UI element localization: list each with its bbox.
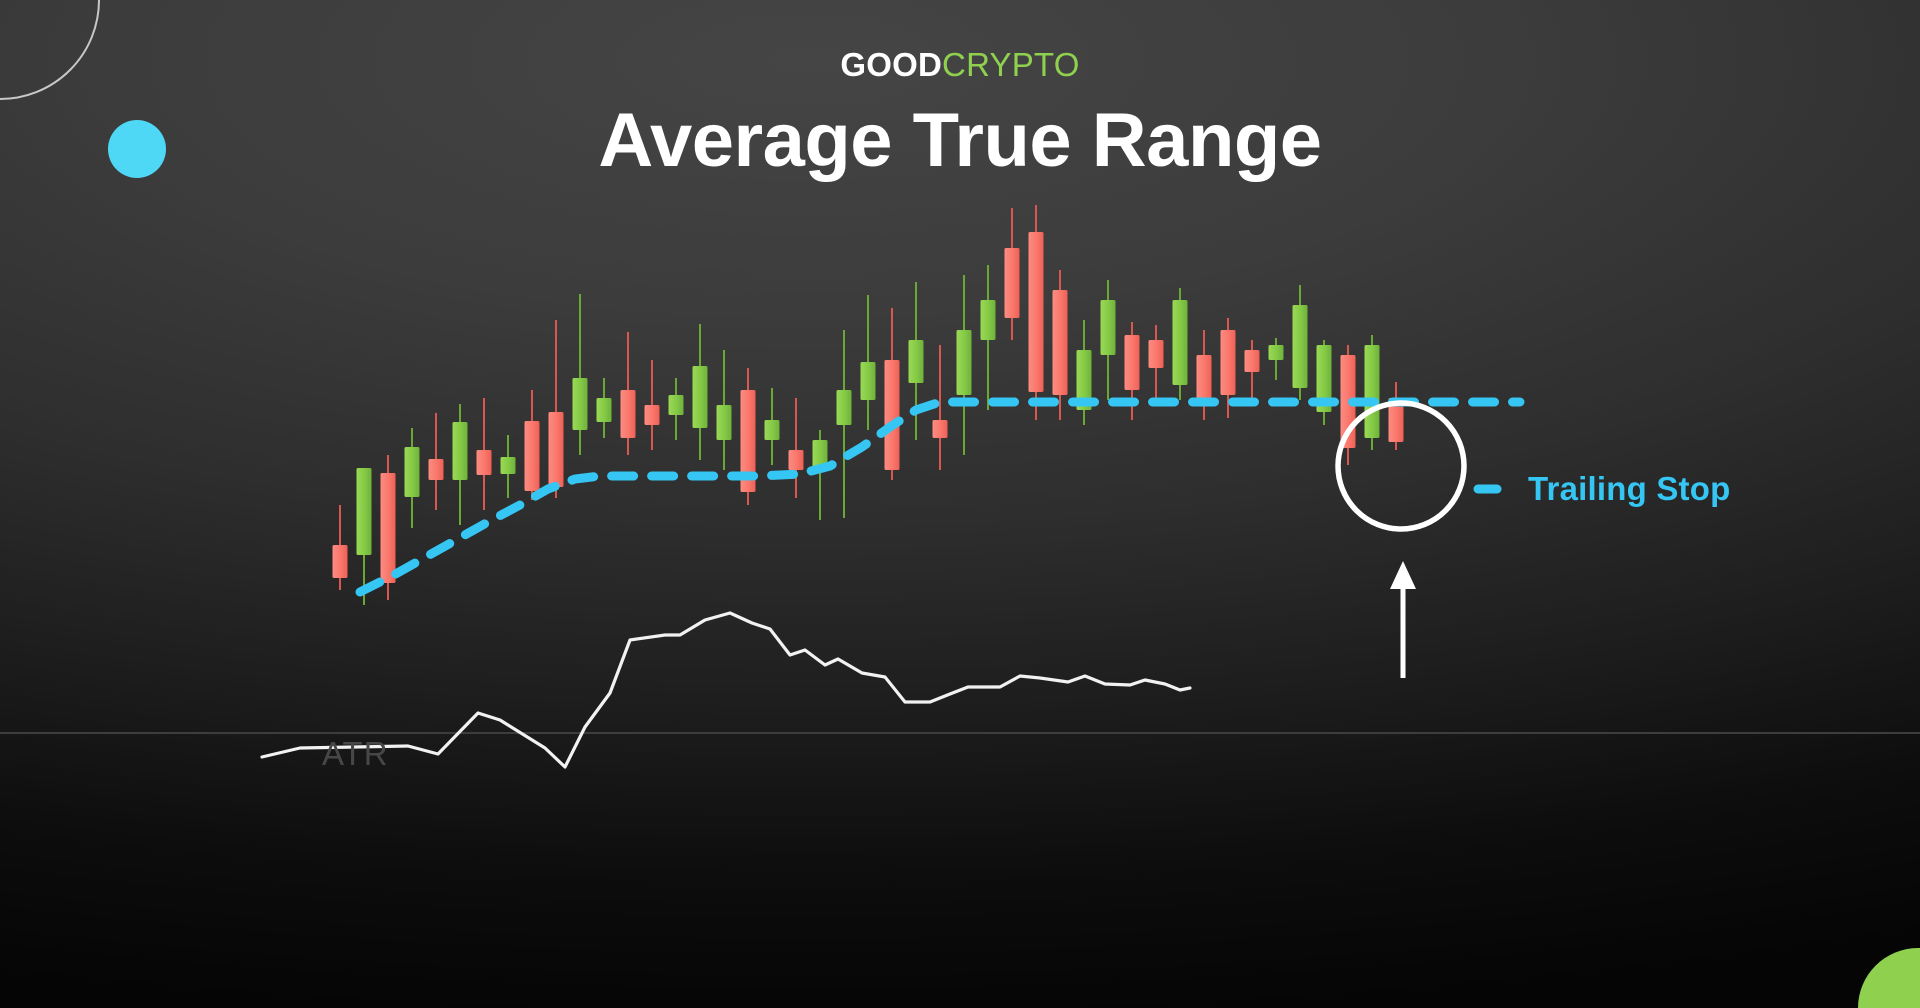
infographic-canvas: GOODCRYPTO Average True Range xyxy=(0,0,1920,1008)
candle-body xyxy=(981,300,996,340)
candle-body xyxy=(501,457,516,474)
candle-body xyxy=(669,395,684,415)
candle-body xyxy=(861,362,876,400)
candle-body xyxy=(453,422,468,480)
candle-body xyxy=(597,398,612,422)
candle-body xyxy=(1149,340,1164,368)
candle-body xyxy=(405,447,420,497)
candle-body xyxy=(789,450,804,470)
candle-body xyxy=(573,378,588,430)
candle-body xyxy=(1293,305,1308,388)
candle-body xyxy=(1053,290,1068,395)
candle-body xyxy=(909,340,924,383)
candle-body xyxy=(1101,300,1116,355)
candle-body xyxy=(429,459,444,480)
candle-body xyxy=(957,330,972,395)
candle-body xyxy=(1269,345,1284,360)
candle-body xyxy=(357,468,372,555)
candle-body xyxy=(621,390,636,438)
candle-body xyxy=(549,412,564,487)
candle-body xyxy=(1365,345,1380,438)
pointer-arrow-icon xyxy=(1390,561,1416,678)
trailing-stop-label: Trailing Stop xyxy=(1528,470,1730,508)
candle-body xyxy=(333,545,348,578)
candle-body xyxy=(645,405,660,425)
candle-body xyxy=(1005,248,1020,318)
candle-body xyxy=(693,366,708,428)
candle-body xyxy=(933,420,948,438)
atr-panel-label: ATR xyxy=(322,735,389,773)
candle-body xyxy=(885,360,900,470)
candle-body xyxy=(1173,300,1188,385)
candle-body xyxy=(717,405,732,440)
candle-body xyxy=(1221,330,1236,395)
candle-body xyxy=(765,420,780,440)
candle-body xyxy=(837,390,852,425)
atr-indicator-line xyxy=(262,613,1190,767)
candle-body xyxy=(1245,350,1260,372)
candle-body xyxy=(1197,355,1212,398)
candle-body xyxy=(381,473,396,583)
candle-body xyxy=(525,421,540,491)
candle-body xyxy=(477,450,492,475)
candle-body xyxy=(1125,335,1140,390)
candle-body xyxy=(1029,232,1044,392)
